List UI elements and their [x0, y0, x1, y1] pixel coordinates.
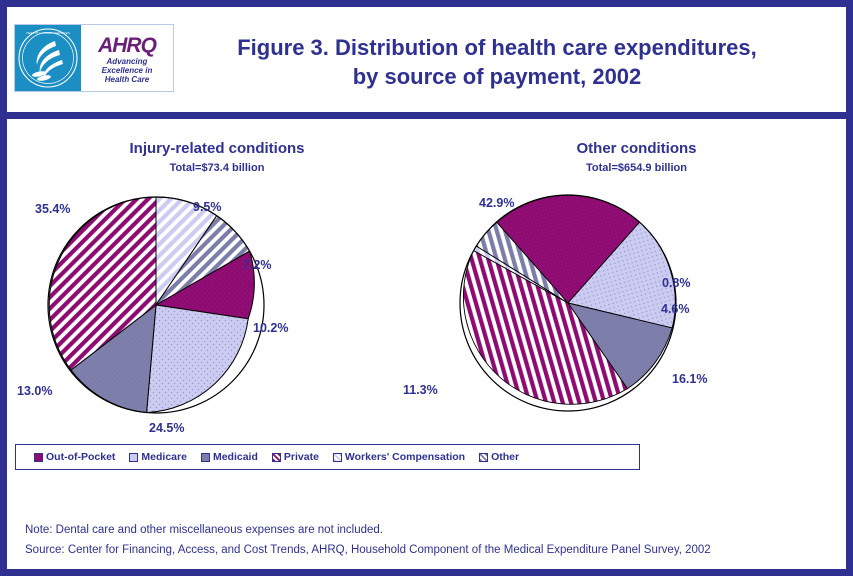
panel-title-other: Other conditions [427, 139, 846, 158]
slice-medicare [147, 305, 249, 413]
pct-label-workers-compensation-other: 0.8% [662, 276, 691, 290]
pct-label-medicaid-other: 11.3% [403, 383, 438, 397]
pct-label-medicaid-injury: 13.0% [17, 384, 52, 398]
legend-label-other: Other [491, 451, 519, 463]
pct-label-other-injury: 7.2% [243, 258, 272, 272]
legend-item-private[interactable]: Private [272, 451, 319, 463]
title-divider [7, 112, 846, 119]
legend-item-workers-compensation[interactable]: Workers' Compensation [333, 451, 465, 463]
pct-label-out-of-pocket-injury: 10.2% [253, 321, 288, 335]
legend-swatch-other [479, 453, 488, 462]
figure-title-line1: Figure 3. Distribution of health care ex… [237, 35, 757, 60]
legend-item-other[interactable]: Other [479, 451, 519, 463]
panel-total-injury: Total=$73.4 billion [7, 160, 427, 176]
ahrq-tagline-line3: Health Care [105, 75, 149, 84]
header: ·HEALTH & HUMAN SERVICES· AHRQ Advancing… [7, 7, 846, 103]
pct-label-workers-compensation-injury: 9.5% [193, 200, 222, 214]
ahrq-tagline-line1: Advancing [107, 57, 148, 66]
legend-swatch-private [272, 453, 281, 462]
panel-total-other: Total=$654.9 billion [427, 160, 846, 176]
legend-swatch-medicare [129, 453, 138, 462]
pct-label-private-other: 42.9% [479, 196, 514, 210]
pct-label-private-injury: 35.4% [35, 202, 70, 216]
pie-wrap-injury: 9.5% 7.2% 10.2% 24.5% 13.0% 35.4% [7, 176, 427, 426]
legend-swatch-out-of-pocket [34, 453, 43, 462]
legend-swatch-medicaid [201, 453, 210, 462]
ahrq-logo: ·HEALTH & HUMAN SERVICES· AHRQ Advancing… [14, 24, 174, 92]
figure-title-line2: by source of payment, 2002 [353, 64, 642, 89]
pie-chart-injury [41, 190, 271, 420]
ahrq-tagline-line2: Excellence in [102, 66, 153, 75]
footer: Note: Dental care and other miscellaneou… [25, 520, 825, 560]
pct-label-medicare-injury: 24.5% [149, 421, 184, 435]
legend-item-medicaid[interactable]: Medicaid [201, 451, 258, 463]
legend-item-medicare[interactable]: Medicare [129, 451, 187, 463]
pct-label-out-of-pocket-other: 16.1% [672, 372, 707, 386]
pct-label-other-other: 4.6% [661, 302, 690, 316]
footer-note: Note: Dental care and other miscellaneou… [25, 520, 825, 540]
svg-text:·HEALTH & HUMAN SERVICES·: ·HEALTH & HUMAN SERVICES· [25, 31, 71, 35]
figure-title: Figure 3. Distribution of health care ex… [187, 33, 807, 91]
ahrq-wordmark: AHRQ Advancing Excellence in Health Care [81, 25, 173, 91]
legend-label-workers-compensation: Workers' Compensation [345, 451, 465, 463]
footer-source: Source: Center for Financing, Access, an… [25, 540, 825, 560]
panel-title-injury: Injury-related conditions [7, 139, 427, 158]
hhs-seal-icon: ·HEALTH & HUMAN SERVICES· [15, 25, 81, 91]
chart-panel-injury: Injury-related conditions Total=$73.4 bi… [7, 139, 427, 426]
legend: Out-of-Pocket Medicare Medicaid Private … [15, 444, 640, 470]
legend-label-out-of-pocket: Out-of-Pocket [46, 451, 115, 463]
pie-wrap-other: 42.9% 0.8% 4.6% 16.1% 24.2% 11.3% [427, 176, 846, 426]
legend-label-private: Private [284, 451, 319, 463]
chart-panel-other: Other conditions Total=$654.9 billion [427, 139, 846, 426]
ahrq-acronym: AHRQ [98, 36, 156, 56]
pie-chart-other [453, 188, 683, 418]
legend-label-medicaid: Medicaid [213, 451, 258, 463]
legend-swatch-workers-compensation [333, 453, 342, 462]
ahrq-tagline: Advancing Excellence in Health Care [102, 57, 153, 84]
legend-label-medicare: Medicare [141, 451, 187, 463]
legend-item-out-of-pocket[interactable]: Out-of-Pocket [34, 451, 115, 463]
figure-page: ·HEALTH & HUMAN SERVICES· AHRQ Advancing… [0, 0, 853, 576]
